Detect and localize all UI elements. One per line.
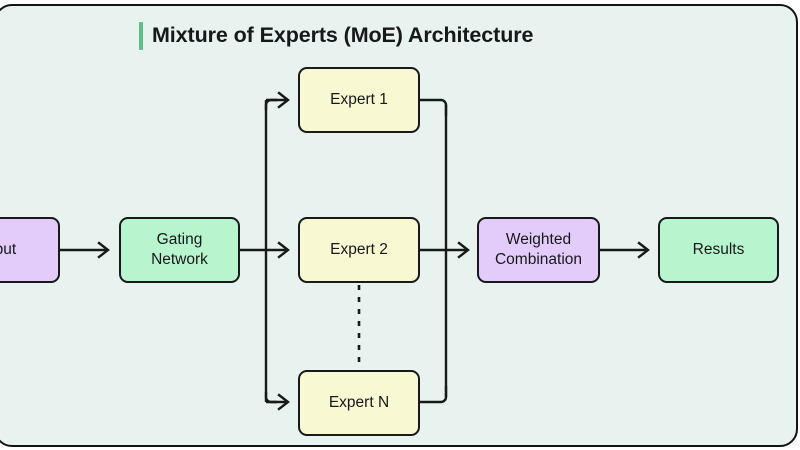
node-results[interactable]: Results <box>658 217 779 283</box>
edge-expert1-merge <box>420 100 446 116</box>
arrowhead-gating-expert2 <box>279 243 288 257</box>
fanout-corner-bottom <box>266 392 277 402</box>
node-expert-n-label: Expert N <box>329 393 389 413</box>
node-expert-2-label: Expert 2 <box>330 240 388 260</box>
diagram-card: Mixture of Experts (MoE) Architecture <box>0 4 798 447</box>
arrowhead-gating-expertn <box>279 395 288 409</box>
edge-expertn-merge <box>420 386 446 402</box>
node-gating-network-label: Gating Network <box>151 230 208 270</box>
node-expert-2[interactable]: Expert 2 <box>298 217 420 283</box>
node-input[interactable]: Input <box>0 217 60 283</box>
node-expert-n[interactable]: Expert N <box>298 370 420 436</box>
node-expert-1-label: Expert 1 <box>330 90 388 110</box>
node-weighted-combination[interactable]: Weighted Combination <box>477 217 600 283</box>
arrowhead-merge-weighted <box>459 243 468 257</box>
title-accent-bar <box>139 22 143 50</box>
node-results-label: Results <box>693 240 745 260</box>
page-title-text: Mixture of Experts (MoE) Architecture <box>152 25 533 47</box>
node-gating-network[interactable]: Gating Network <box>119 217 240 283</box>
node-input-label: Input <box>0 240 16 260</box>
page-title: Mixture of Experts (MoE) Architecture <box>139 20 533 52</box>
arrowhead-input-gating <box>99 243 108 257</box>
fanout-corner-top <box>266 100 277 110</box>
arrowhead-gating-expert1 <box>279 93 288 107</box>
node-expert-1[interactable]: Expert 1 <box>298 67 420 133</box>
diagram-canvas: Mixture of Experts (MoE) Architecture <box>0 0 800 450</box>
node-weighted-combination-label: Weighted Combination <box>495 230 582 270</box>
arrowhead-weighted-results <box>639 243 648 257</box>
